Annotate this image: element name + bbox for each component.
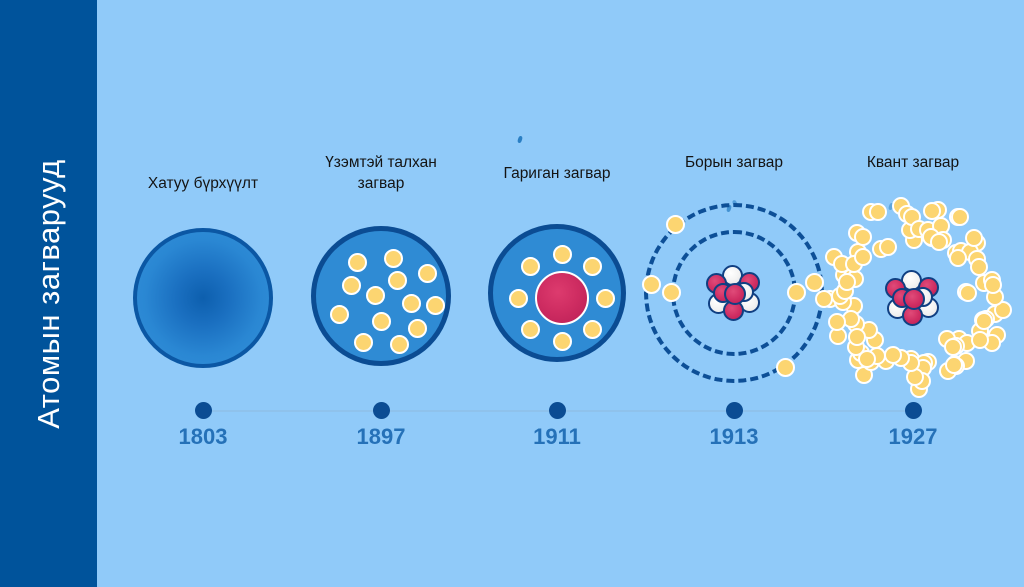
electron-dot	[583, 257, 602, 276]
solid-sphere-art	[133, 228, 273, 368]
electron-dot	[553, 332, 572, 351]
electron-cloud-dot	[965, 229, 983, 247]
electron-dot	[509, 289, 528, 308]
proton-sphere-center	[903, 288, 925, 310]
electron-cloud-dot	[951, 208, 969, 226]
electron-dot	[384, 249, 403, 268]
electron-cloud-dot	[984, 276, 1002, 294]
timeline-dot[interactable]	[195, 402, 212, 419]
electron-dot	[521, 257, 540, 276]
timeline-year-1911: 1911	[497, 424, 617, 450]
proton-sphere-center	[724, 283, 746, 305]
electron-cloud-dot	[854, 228, 872, 246]
electron-cloud-dot	[828, 313, 846, 331]
electron-cloud-dot	[848, 328, 866, 346]
decorative-speck-icon	[517, 136, 523, 144]
electron-dot	[583, 320, 602, 339]
slide-canvas: Атомын загварууд Хатуу бүрхүүлт Үзэмтэй …	[0, 0, 1024, 587]
electron-dot	[408, 319, 427, 338]
electron-cloud-dot	[879, 238, 897, 256]
model-label-quantum: Квант загвар	[803, 152, 1023, 173]
electron-cloud-dot	[884, 346, 902, 364]
electron-cloud-dot	[869, 203, 887, 221]
electron-dot	[666, 215, 685, 234]
planetary-art	[488, 224, 626, 362]
electron-dot	[426, 296, 445, 315]
quantum-art	[815, 200, 1011, 396]
slide-title: Атомын загварууд	[31, 159, 67, 429]
electron-cloud-dot	[930, 233, 948, 251]
electron-dot	[366, 286, 385, 305]
electron-dot	[787, 283, 806, 302]
nucleus-cluster	[706, 265, 762, 321]
electron-dot	[354, 333, 373, 352]
electron-dot	[553, 245, 572, 264]
timeline-dot[interactable]	[726, 402, 743, 419]
nucleus-cluster	[885, 270, 941, 326]
plum-pudding-art	[311, 226, 451, 366]
timeline-dot[interactable]	[373, 402, 390, 419]
electron-dot	[348, 253, 367, 272]
electron-dot	[418, 264, 437, 283]
electron-dot	[330, 305, 349, 324]
electron-dot	[521, 320, 540, 339]
electron-dot	[662, 283, 681, 302]
electron-cloud-dot	[945, 356, 963, 374]
electron-dot	[642, 275, 661, 294]
electron-dot	[402, 294, 421, 313]
electron-cloud-dot	[854, 248, 872, 266]
electron-dot	[776, 358, 795, 377]
timeline-dot[interactable]	[905, 402, 922, 419]
electron-cloud-dot	[949, 249, 967, 267]
electron-cloud-dot	[959, 284, 977, 302]
timeline-year-1803: 1803	[143, 424, 263, 450]
nucleus	[535, 271, 589, 325]
timeline-year-1913: 1913	[674, 424, 794, 450]
electron-dot	[342, 276, 361, 295]
bohr-art	[644, 203, 824, 383]
timeline-year-1927: 1927	[853, 424, 973, 450]
electron-dot	[388, 271, 407, 290]
electron-cloud-dot	[971, 331, 989, 349]
timeline-year-1897: 1897	[321, 424, 441, 450]
sidebar-title-panel: Атомын загварууд	[0, 0, 97, 587]
electron-cloud-dot	[838, 273, 856, 291]
timeline-dot[interactable]	[549, 402, 566, 419]
electron-dot	[596, 289, 615, 308]
electron-dot	[390, 335, 409, 354]
electron-dot	[372, 312, 391, 331]
